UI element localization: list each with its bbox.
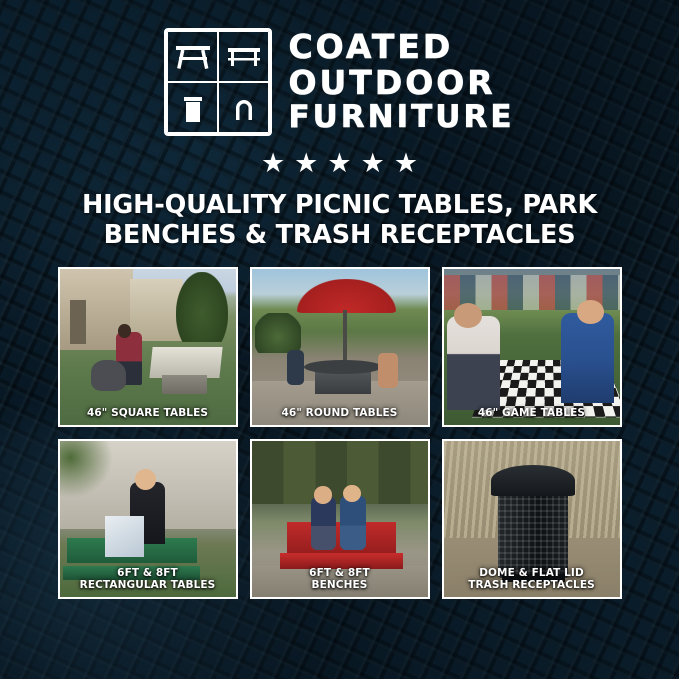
logo-word-furniture: FURNITURE [288, 102, 514, 133]
caption-line-2: RECTANGULAR TABLES [63, 580, 233, 592]
product-tile-square-tables[interactable]: 46" SQUARE TABLES [58, 267, 238, 427]
brand-logo: COATED OUTDOOR FURNITURE [164, 28, 514, 136]
caption-line-1: 46" SQUARE TABLES [63, 408, 233, 420]
product-tile-rectangular-tables[interactable]: 6FT & 8FT RECTANGULAR TABLES [58, 439, 238, 599]
product-tile-benches[interactable]: 6FT & 8FT BENCHES [250, 439, 430, 599]
five-star-rating: ★ ★ ★ ★ ★ [261, 150, 418, 177]
logo-cell-picnic-table-icon [167, 31, 218, 82]
product-grid: 46" SQUARE TABLES 46" ROUND TABLES [58, 267, 622, 599]
product-caption-round-tables: 46" ROUND TABLES [252, 404, 428, 425]
product-photo-round-tables [252, 269, 428, 425]
product-caption-trash-receptacles: DOME & FLAT LID TRASH RECEPTACLES [444, 564, 620, 597]
star-icon-4: ★ [361, 150, 385, 177]
product-tile-round-tables[interactable]: 46" ROUND TABLES [250, 267, 430, 427]
logo-word-outdoor: OUTDOOR [288, 66, 514, 99]
caption-line-1: 46" GAME TABLES [447, 408, 617, 420]
logo-cell-bench-icon [218, 31, 269, 82]
caption-line-1: 46" ROUND TABLES [255, 408, 425, 420]
star-icon-1: ★ [261, 150, 285, 177]
product-caption-rectangular-tables: 6FT & 8FT RECTANGULAR TABLES [60, 564, 236, 597]
star-icon-3: ★ [327, 150, 351, 177]
headline-line-2: BENCHES & TRASH RECEPTACLES [82, 220, 597, 250]
product-caption-square-tables: 46" SQUARE TABLES [60, 404, 236, 425]
logo-cell-flat-lid-receptacle-icon [167, 82, 218, 133]
logo-word-coated: COATED [288, 30, 514, 63]
product-photo-game-tables [444, 269, 620, 425]
product-photo-square-tables [60, 269, 236, 425]
page-title: HIGH-QUALITY PICNIC TABLES, PARK BENCHES… [82, 190, 597, 250]
star-icon-2: ★ [294, 150, 318, 177]
headline-line-1: HIGH-QUALITY PICNIC TABLES, PARK [82, 190, 597, 220]
product-tile-trash-receptacles[interactable]: DOME & FLAT LID TRASH RECEPTACLES [442, 439, 622, 599]
logo-mark-icon [164, 28, 272, 136]
star-icon-5: ★ [394, 150, 418, 177]
caption-line-2: TRASH RECEPTACLES [447, 580, 617, 592]
product-tile-game-tables[interactable]: 46" GAME TABLES [442, 267, 622, 427]
logo-cell-dome-lid-receptacle-icon [218, 82, 269, 133]
logo-wordmark: COATED OUTDOOR FURNITURE [288, 30, 514, 135]
poster-content: COATED OUTDOOR FURNITURE ★ ★ ★ ★ ★ HIGH-… [0, 0, 679, 679]
product-caption-benches: 6FT & 8FT BENCHES [252, 564, 428, 597]
product-poster: COATED OUTDOOR FURNITURE ★ ★ ★ ★ ★ HIGH-… [0, 0, 679, 679]
product-caption-game-tables: 46" GAME TABLES [444, 404, 620, 425]
caption-line-2: BENCHES [255, 580, 425, 592]
